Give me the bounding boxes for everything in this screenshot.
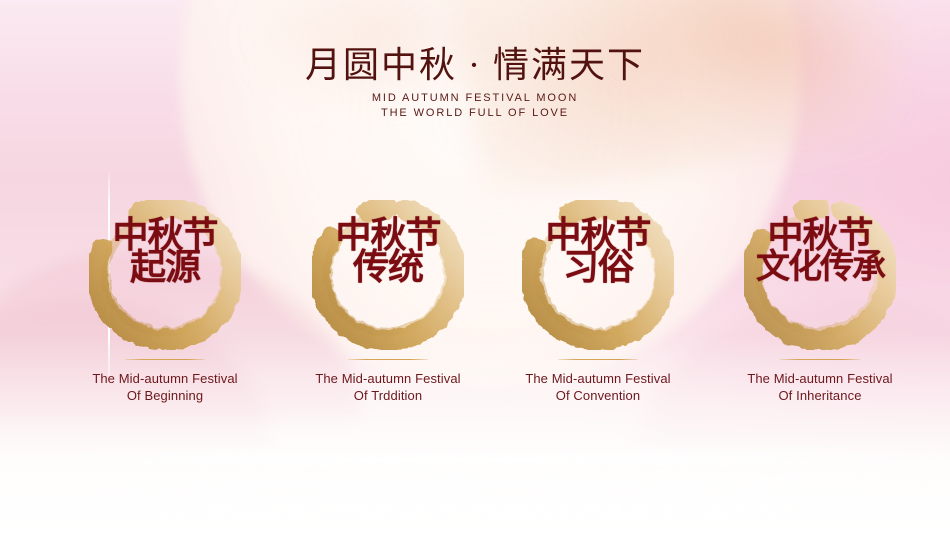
card-caption: The Mid-autumn Festival Of Beginning	[54, 370, 276, 404]
card-divider	[348, 359, 428, 360]
card-caption: The Mid-autumn Festival Of Trddition	[277, 370, 499, 404]
brush-circle-icon	[89, 200, 241, 350]
card-caption-line1: The Mid-autumn Festival	[487, 370, 709, 387]
card-caption-line2: Of Trddition	[277, 387, 499, 404]
brush-circle-icon	[522, 200, 674, 350]
card-custom[interactable]: 中秋节 习俗 The Mid-autumn Festival Of Conven…	[487, 196, 709, 426]
card-tradition[interactable]: 中秋节 传统 The Mid-autumn Festival Of Trddit…	[277, 196, 499, 426]
background-mist-band-1	[0, 452, 950, 466]
card-caption: The Mid-autumn Festival Of Inheritance	[709, 370, 931, 404]
card-row: 中秋节 起源 The Mid-autumn Festival Of Beginn…	[0, 196, 950, 426]
card-caption: The Mid-autumn Festival Of Convention	[487, 370, 709, 404]
brush-circle-icon	[312, 200, 464, 350]
card-heritage[interactable]: 中秋节 文化传承 The Mid-autumn Festival Of Inhe…	[709, 196, 931, 426]
card-caption-line2: Of Convention	[487, 387, 709, 404]
card-divider	[780, 359, 860, 360]
brush-circle-icon	[744, 200, 896, 350]
card-caption-line1: The Mid-autumn Festival	[54, 370, 276, 387]
card-caption-line1: The Mid-autumn Festival	[277, 370, 499, 387]
page-subtitle-line2: THE WORLD FULL OF LOVE	[0, 106, 950, 121]
slide-canvas: 月圆中秋 · 情满天下 MID AUTUMN FESTIVAL MOON THE…	[0, 0, 950, 535]
background-mist-band-3	[0, 503, 950, 513]
slide-header: 月圆中秋 · 情满天下 MID AUTUMN FESTIVAL MOON THE…	[0, 44, 950, 121]
card-caption-line2: Of Beginning	[54, 387, 276, 404]
card-caption-line1: The Mid-autumn Festival	[709, 370, 931, 387]
card-divider	[125, 359, 205, 360]
card-divider	[558, 359, 638, 360]
card-caption-line2: Of Inheritance	[709, 387, 931, 404]
page-title: 月圆中秋 · 情满天下	[0, 44, 950, 86]
card-origin[interactable]: 中秋节 起源 The Mid-autumn Festival Of Beginn…	[54, 196, 276, 426]
page-subtitle-line1: MID AUTUMN FESTIVAL MOON	[0, 91, 950, 106]
background-mist-band-2	[0, 476, 950, 486]
